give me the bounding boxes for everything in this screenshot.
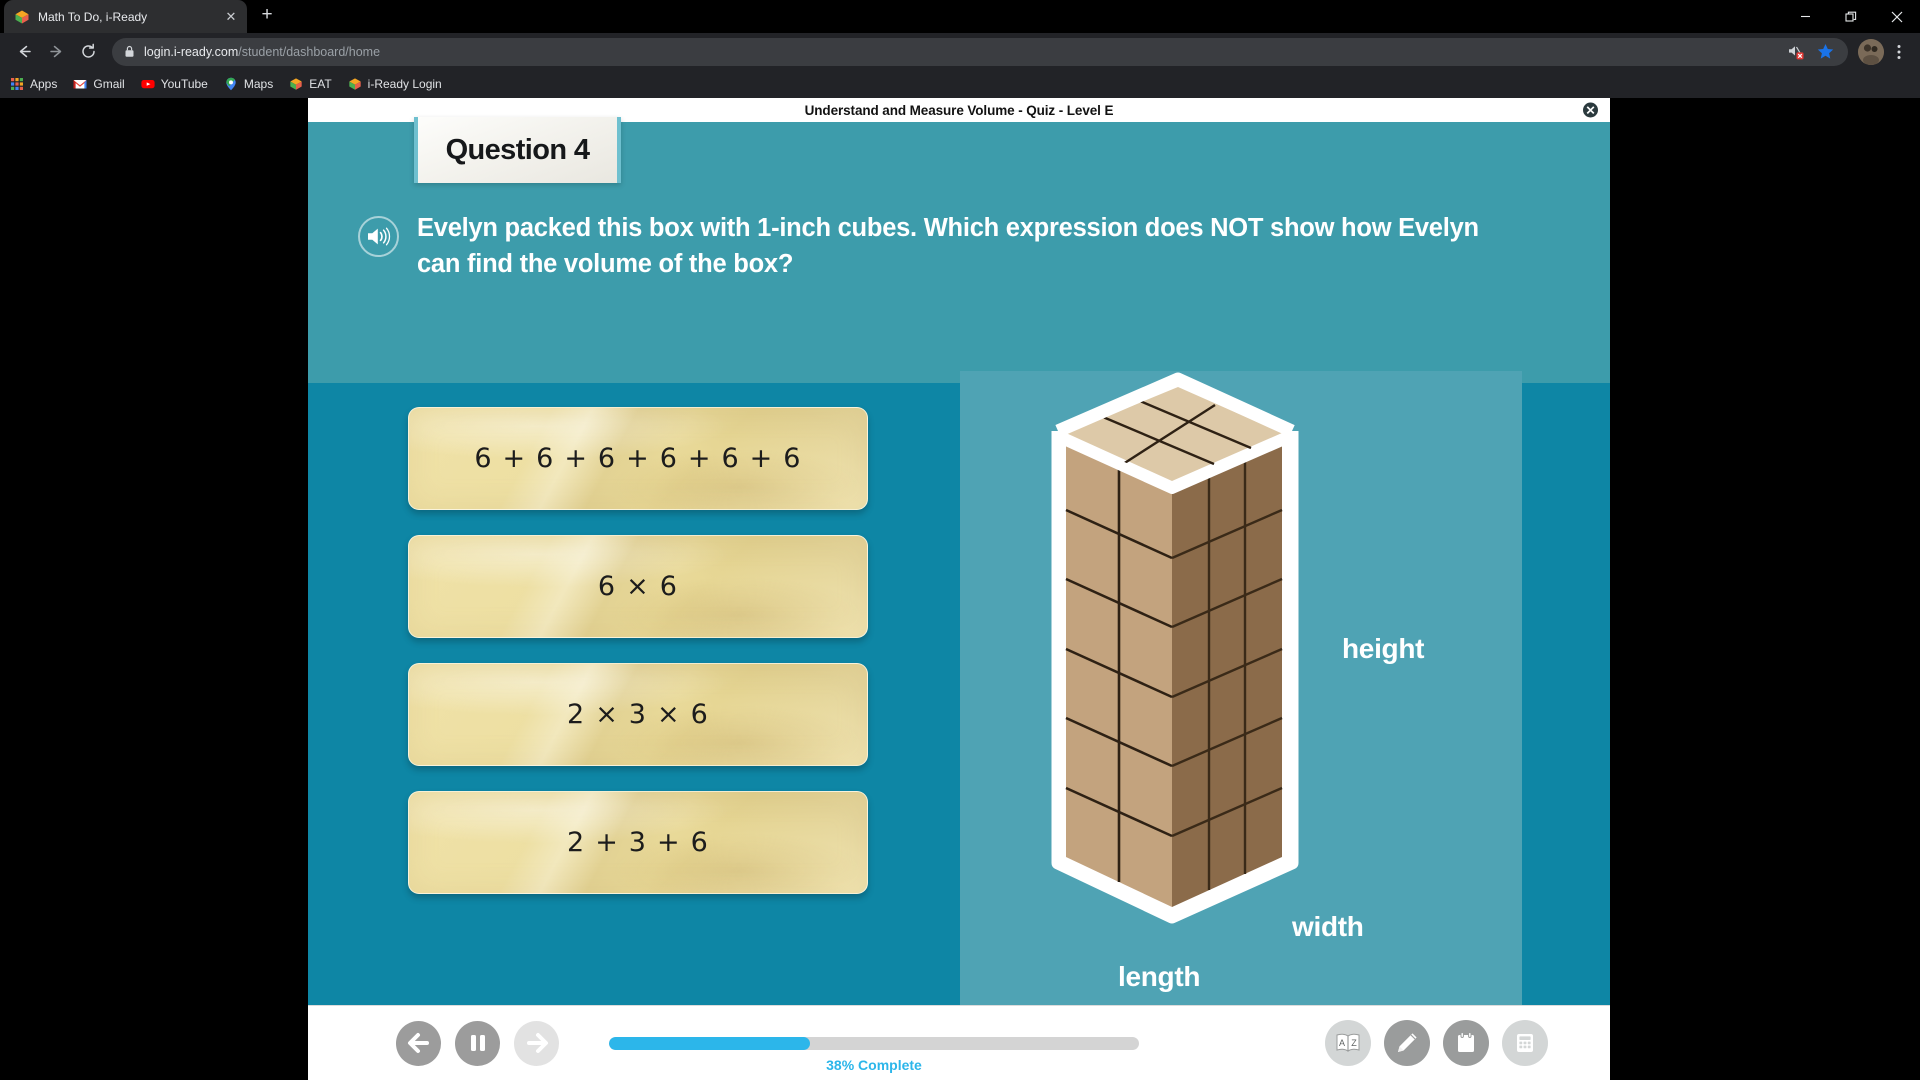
close-icon[interactable]: ✕	[223, 9, 239, 25]
browser-tab[interactable]: Math To Do, i-Ready ✕	[4, 0, 247, 33]
quiz-footer-toolbar: 38% Complete A Z	[308, 1005, 1610, 1080]
minimize-icon[interactable]	[1782, 0, 1828, 33]
url-text: login.i-ready.com/student/dashboard/home	[144, 45, 380, 59]
bookmark-maps[interactable]: Maps	[224, 77, 273, 91]
bookmark-label: YouTube	[161, 77, 208, 91]
window-controls	[1782, 0, 1920, 33]
bookmarks-bar: Apps Gmail YouTube	[0, 70, 1920, 98]
reload-button[interactable]	[74, 38, 102, 66]
youtube-icon	[141, 77, 155, 91]
volume-box-diagram: height width length	[960, 371, 1522, 1080]
close-icon[interactable]: ✕	[1581, 101, 1600, 120]
close-icon[interactable]	[1874, 0, 1920, 33]
calculator-icon[interactable]	[1502, 1020, 1548, 1066]
browser-window: Math To Do, i-Ready ✕ +	[0, 0, 1920, 1080]
lock-icon	[124, 45, 135, 58]
media-muted-icon[interactable]	[1786, 42, 1806, 62]
answer-options: 6 + 6 + 6 + 6 + 6 + 6 6 × 6 2 × 3 × 6 2 …	[408, 407, 868, 894]
browser-toolbar: login.i-ready.com/student/dashboard/home	[0, 33, 1920, 70]
bookmark-label: Maps	[244, 77, 273, 91]
answer-option[interactable]: 2 + 3 + 6	[408, 791, 868, 894]
pause-button[interactable]	[455, 1021, 500, 1066]
quiz-header: Question 4 Evelyn packed this box with 1…	[308, 122, 1610, 383]
browser-menu-button[interactable]	[1888, 43, 1910, 61]
back-arrow-button[interactable]	[396, 1021, 441, 1066]
progress-bar	[609, 1037, 1139, 1050]
avatar[interactable]	[1858, 39, 1884, 65]
answer-text: 6 + 6 + 6 + 6 + 6 + 6	[474, 443, 801, 474]
bookmark-apps[interactable]: Apps	[10, 77, 57, 91]
pencil-annotate-icon[interactable]	[1384, 1020, 1430, 1066]
speaker-audio-icon[interactable]	[358, 216, 399, 257]
bookmark-label: Gmail	[93, 77, 124, 91]
notepad-icon[interactable]	[1443, 1020, 1489, 1066]
answer-text: 2 + 3 + 6	[567, 827, 709, 858]
bookmark-label: i-Ready Login	[368, 77, 442, 91]
svg-text:Z: Z	[1351, 1038, 1357, 1048]
progress-label: 38% Complete	[826, 1057, 922, 1073]
question-number: Question 4	[446, 134, 590, 167]
quiz-tools: A Z	[1325, 1020, 1610, 1066]
answer-option[interactable]: 6 × 6	[408, 535, 868, 638]
diagram-label-width: width	[1292, 911, 1364, 943]
question-text: Evelyn packed this box with 1-inch cubes…	[417, 210, 1487, 282]
bookmark-star-icon[interactable]	[1816, 42, 1836, 62]
gmail-icon	[73, 77, 87, 91]
tab-strip: Math To Do, i-Ready ✕ +	[0, 0, 1920, 33]
forward-arrow-button[interactable]	[514, 1021, 559, 1066]
diagram-label-length: length	[1118, 961, 1200, 993]
progress-section: 38% Complete	[609, 1037, 1139, 1050]
quiz-title: Understand and Measure Volume - Quiz - L…	[805, 103, 1114, 118]
maps-pin-icon	[224, 77, 238, 91]
diagram-label-height: height	[1342, 633, 1424, 665]
forward-button[interactable]	[42, 38, 70, 66]
quiz-body: 6 + 6 + 6 + 6 + 6 + 6 6 × 6 2 × 3 × 6 2 …	[308, 383, 1610, 1080]
question-banner: Question 4	[414, 117, 621, 183]
quiz-container: Understand and Measure Volume - Quiz - L…	[308, 98, 1610, 1080]
box-illustration	[960, 371, 1522, 1071]
omnibox-actions	[1786, 42, 1836, 62]
bookmark-label: Apps	[30, 77, 57, 91]
answer-option[interactable]: 2 × 3 × 6	[408, 663, 868, 766]
cube-icon	[14, 9, 30, 25]
svg-text:A: A	[1339, 1038, 1345, 1048]
progress-bar-fill	[609, 1037, 810, 1050]
bookmark-youtube[interactable]: YouTube	[141, 77, 208, 91]
question-row: Evelyn packed this box with 1-inch cubes…	[358, 210, 1562, 282]
page-content: Understand and Measure Volume - Quiz - L…	[0, 98, 1920, 1080]
url-path: /student/dashboard/home	[238, 45, 380, 59]
answer-text: 6 × 6	[598, 571, 678, 602]
tab-title: Math To Do, i-Ready	[38, 10, 215, 24]
glossary-book-icon[interactable]: A Z	[1325, 1020, 1371, 1066]
apps-grid-icon	[10, 77, 24, 91]
address-bar[interactable]: login.i-ready.com/student/dashboard/home	[112, 38, 1848, 66]
cube-icon	[348, 77, 362, 91]
url-host: login.i-ready.com	[144, 45, 238, 59]
answer-text: 2 × 3 × 6	[567, 699, 709, 730]
bookmark-label: EAT	[309, 77, 331, 91]
bookmark-gmail[interactable]: Gmail	[73, 77, 124, 91]
back-button[interactable]	[10, 38, 38, 66]
bookmark-eat[interactable]: EAT	[289, 77, 331, 91]
bookmark-i-ready-login[interactable]: i-Ready Login	[348, 77, 442, 91]
answer-option[interactable]: 6 + 6 + 6 + 6 + 6 + 6	[408, 407, 868, 510]
maximize-icon[interactable]	[1828, 0, 1874, 33]
cube-icon	[289, 77, 303, 91]
new-tab-button[interactable]: +	[253, 2, 281, 30]
